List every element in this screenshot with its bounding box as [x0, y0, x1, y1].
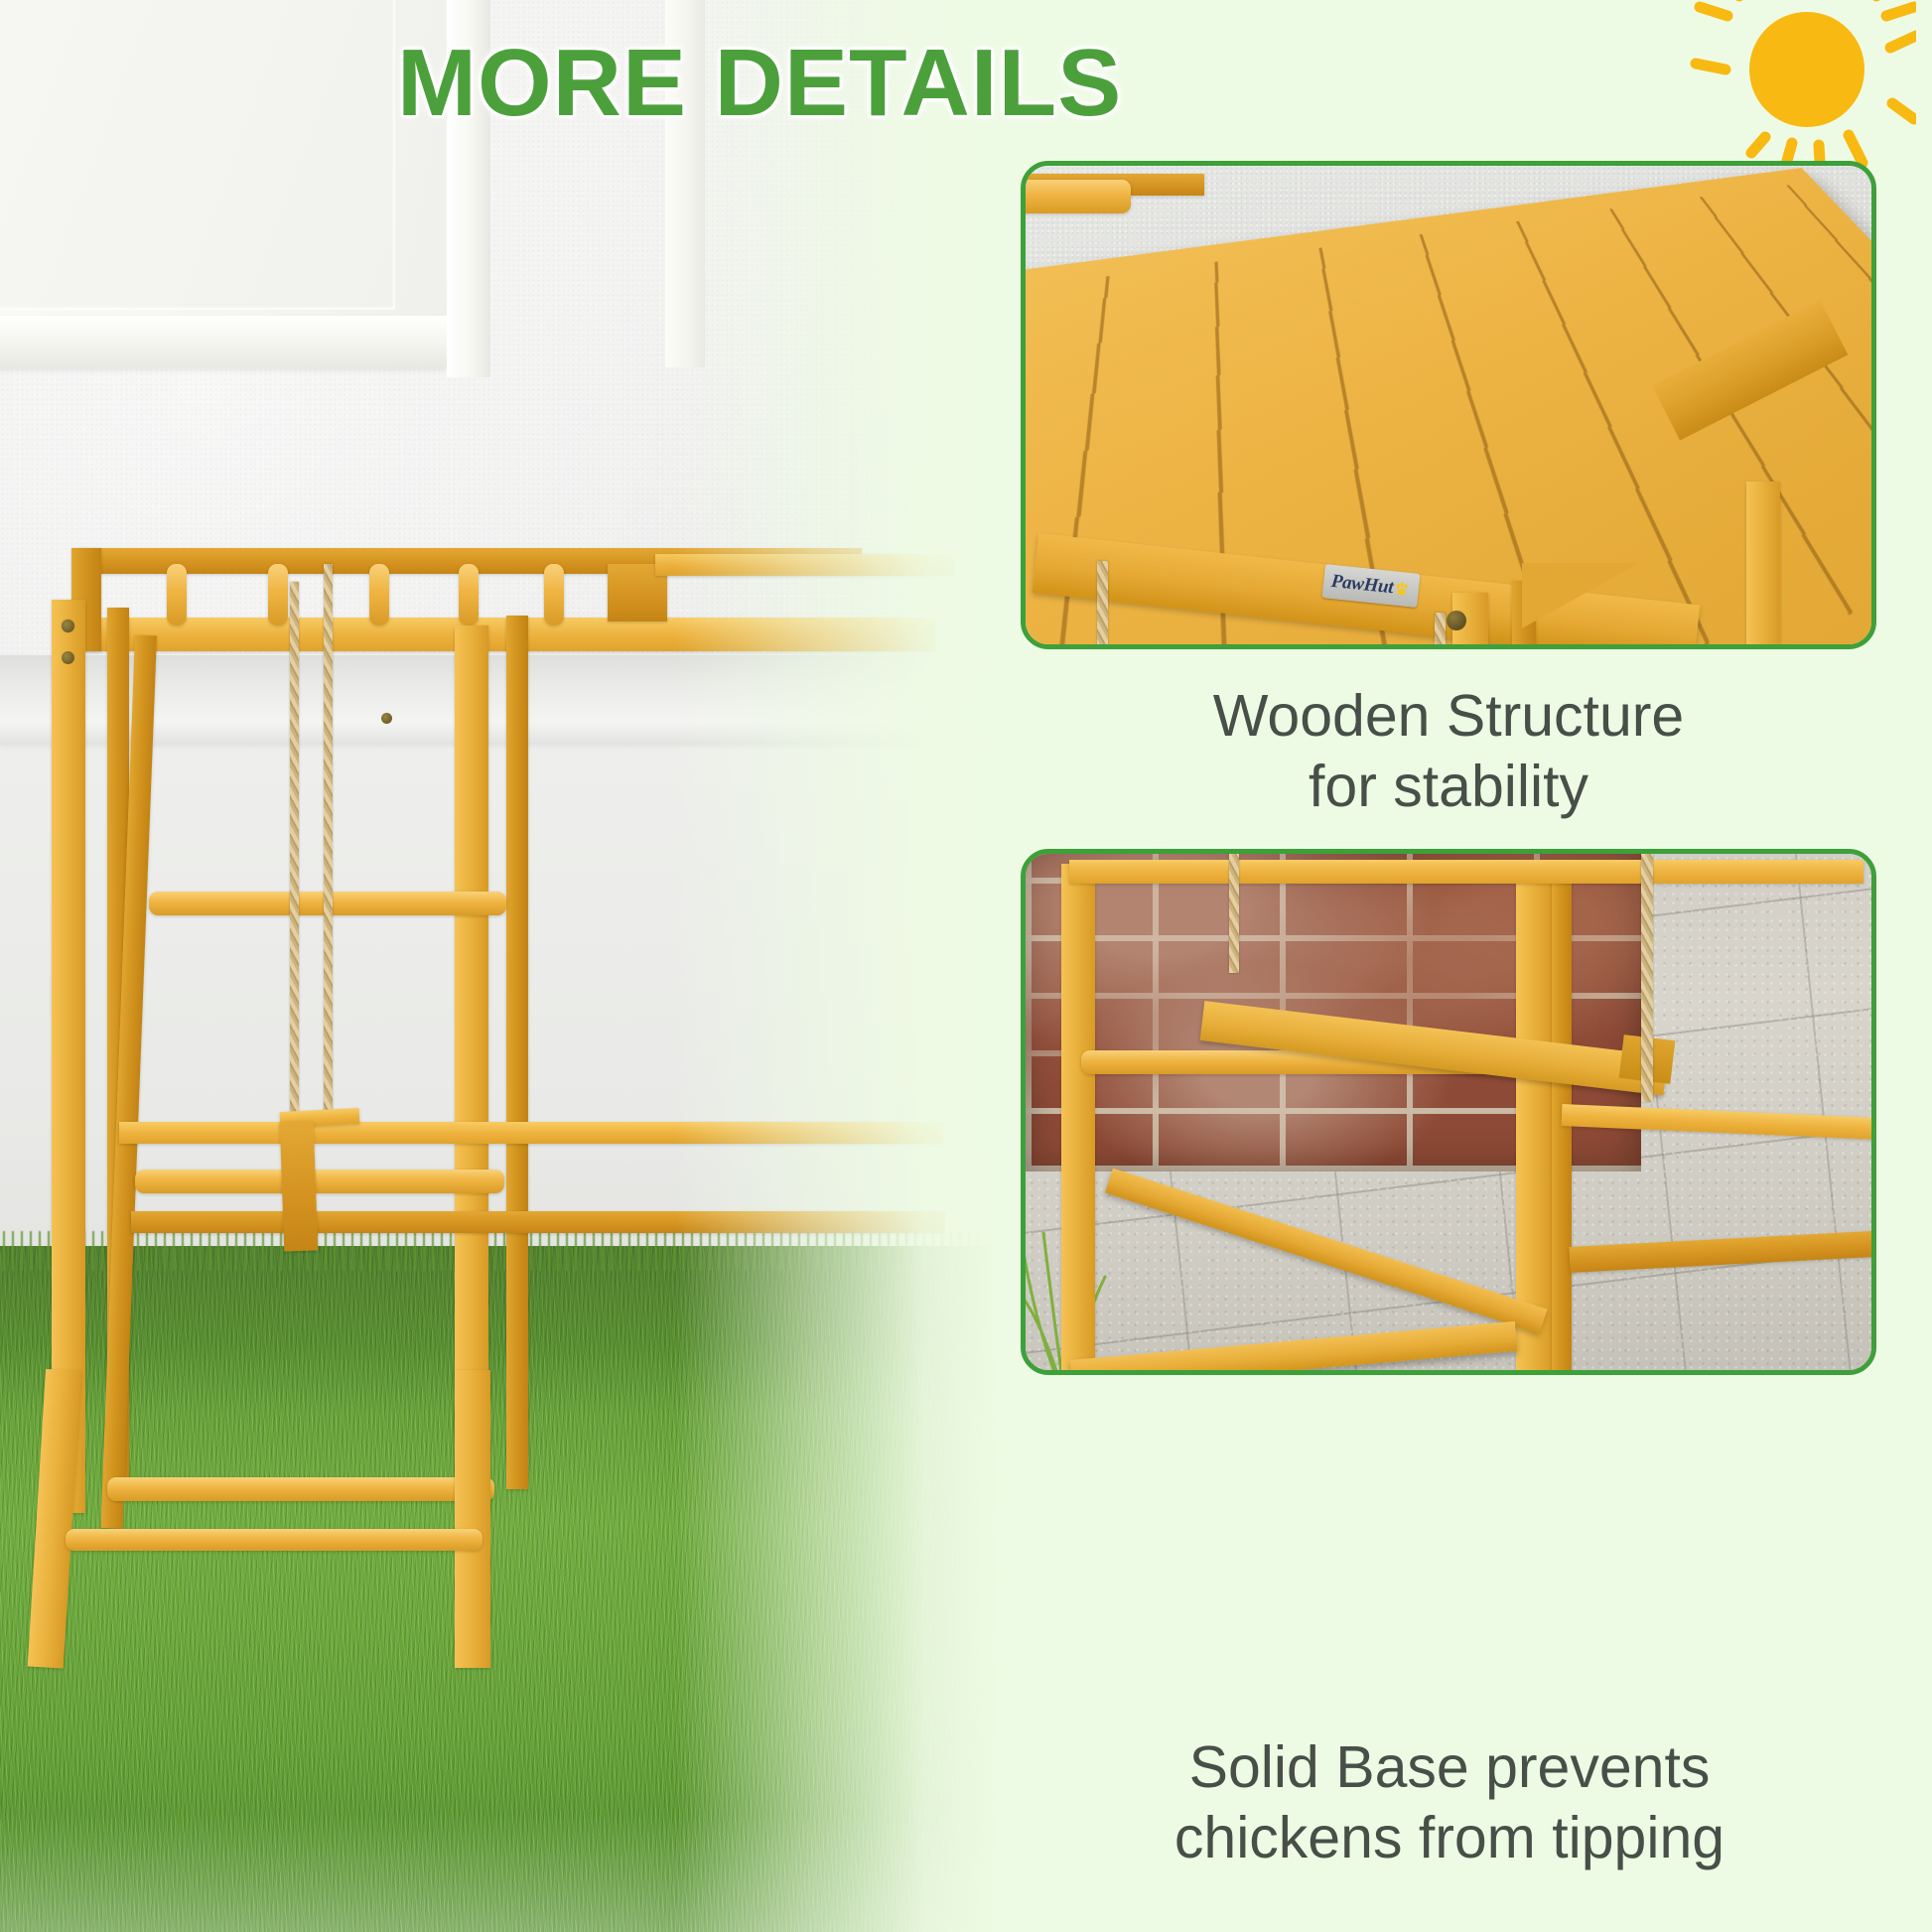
hero-right-fade	[675, 0, 1003, 1932]
base-hanging-rope	[1641, 854, 1653, 1102]
roost-dowel-5	[544, 564, 564, 625]
page-title: MORE DETAILS	[397, 28, 1211, 142]
roost-dowel-3	[369, 564, 389, 625]
frame-foot-right	[455, 1370, 490, 1668]
screw-icon	[1447, 611, 1466, 630]
frame-rung-middle	[135, 1170, 504, 1193]
base-hanging-rope-2	[1229, 854, 1239, 973]
table-leg-right	[1746, 482, 1780, 649]
detail-panel-wooden-structure: PawHut	[1021, 161, 1876, 649]
base-post-center	[1516, 862, 1552, 1375]
caption-solid-base: Solid Base prevents chickens from tippin…	[983, 1732, 1916, 1873]
door-sill	[0, 316, 447, 367]
table-rear-dowel	[1021, 180, 1131, 213]
pawhut-logo-text: PawHut	[1330, 571, 1395, 599]
frame-foot-rail	[66, 1529, 483, 1551]
caption-wooden-structure: Wooden Structure for stability	[993, 681, 1904, 822]
base-post-left	[1061, 864, 1095, 1375]
door-inner-panel	[0, 0, 395, 310]
detail-panel-solid-base	[1021, 849, 1876, 1375]
base-rail-top	[1069, 860, 1863, 884]
screw-icon	[62, 651, 74, 664]
paw-icon	[1394, 581, 1412, 599]
wooden-table-top-closeup: PawHut	[1026, 166, 1871, 644]
screw-icon	[62, 620, 74, 632]
swing-rope-left	[290, 582, 299, 1118]
swing-seat-edge	[280, 1121, 319, 1251]
hero-bottom-fade	[0, 1813, 1003, 1932]
hanging-rope-right	[1435, 613, 1446, 649]
swing-rope-right	[324, 564, 333, 1120]
wooden-base-frame-closeup	[1026, 854, 1871, 1370]
frame-leg-rear-right	[506, 616, 528, 1489]
hanging-rope-left	[1097, 561, 1108, 649]
roost-dowel-2	[268, 564, 288, 625]
screw-icon	[381, 713, 392, 724]
roost-dowel-1	[167, 564, 187, 625]
roost-dowel-4	[459, 564, 479, 625]
frame-rung-lower	[107, 1477, 494, 1501]
table-corner-gusset	[1522, 563, 1639, 628]
white-door-panel	[0, 0, 447, 367]
hero-product-image	[0, 0, 1003, 1932]
